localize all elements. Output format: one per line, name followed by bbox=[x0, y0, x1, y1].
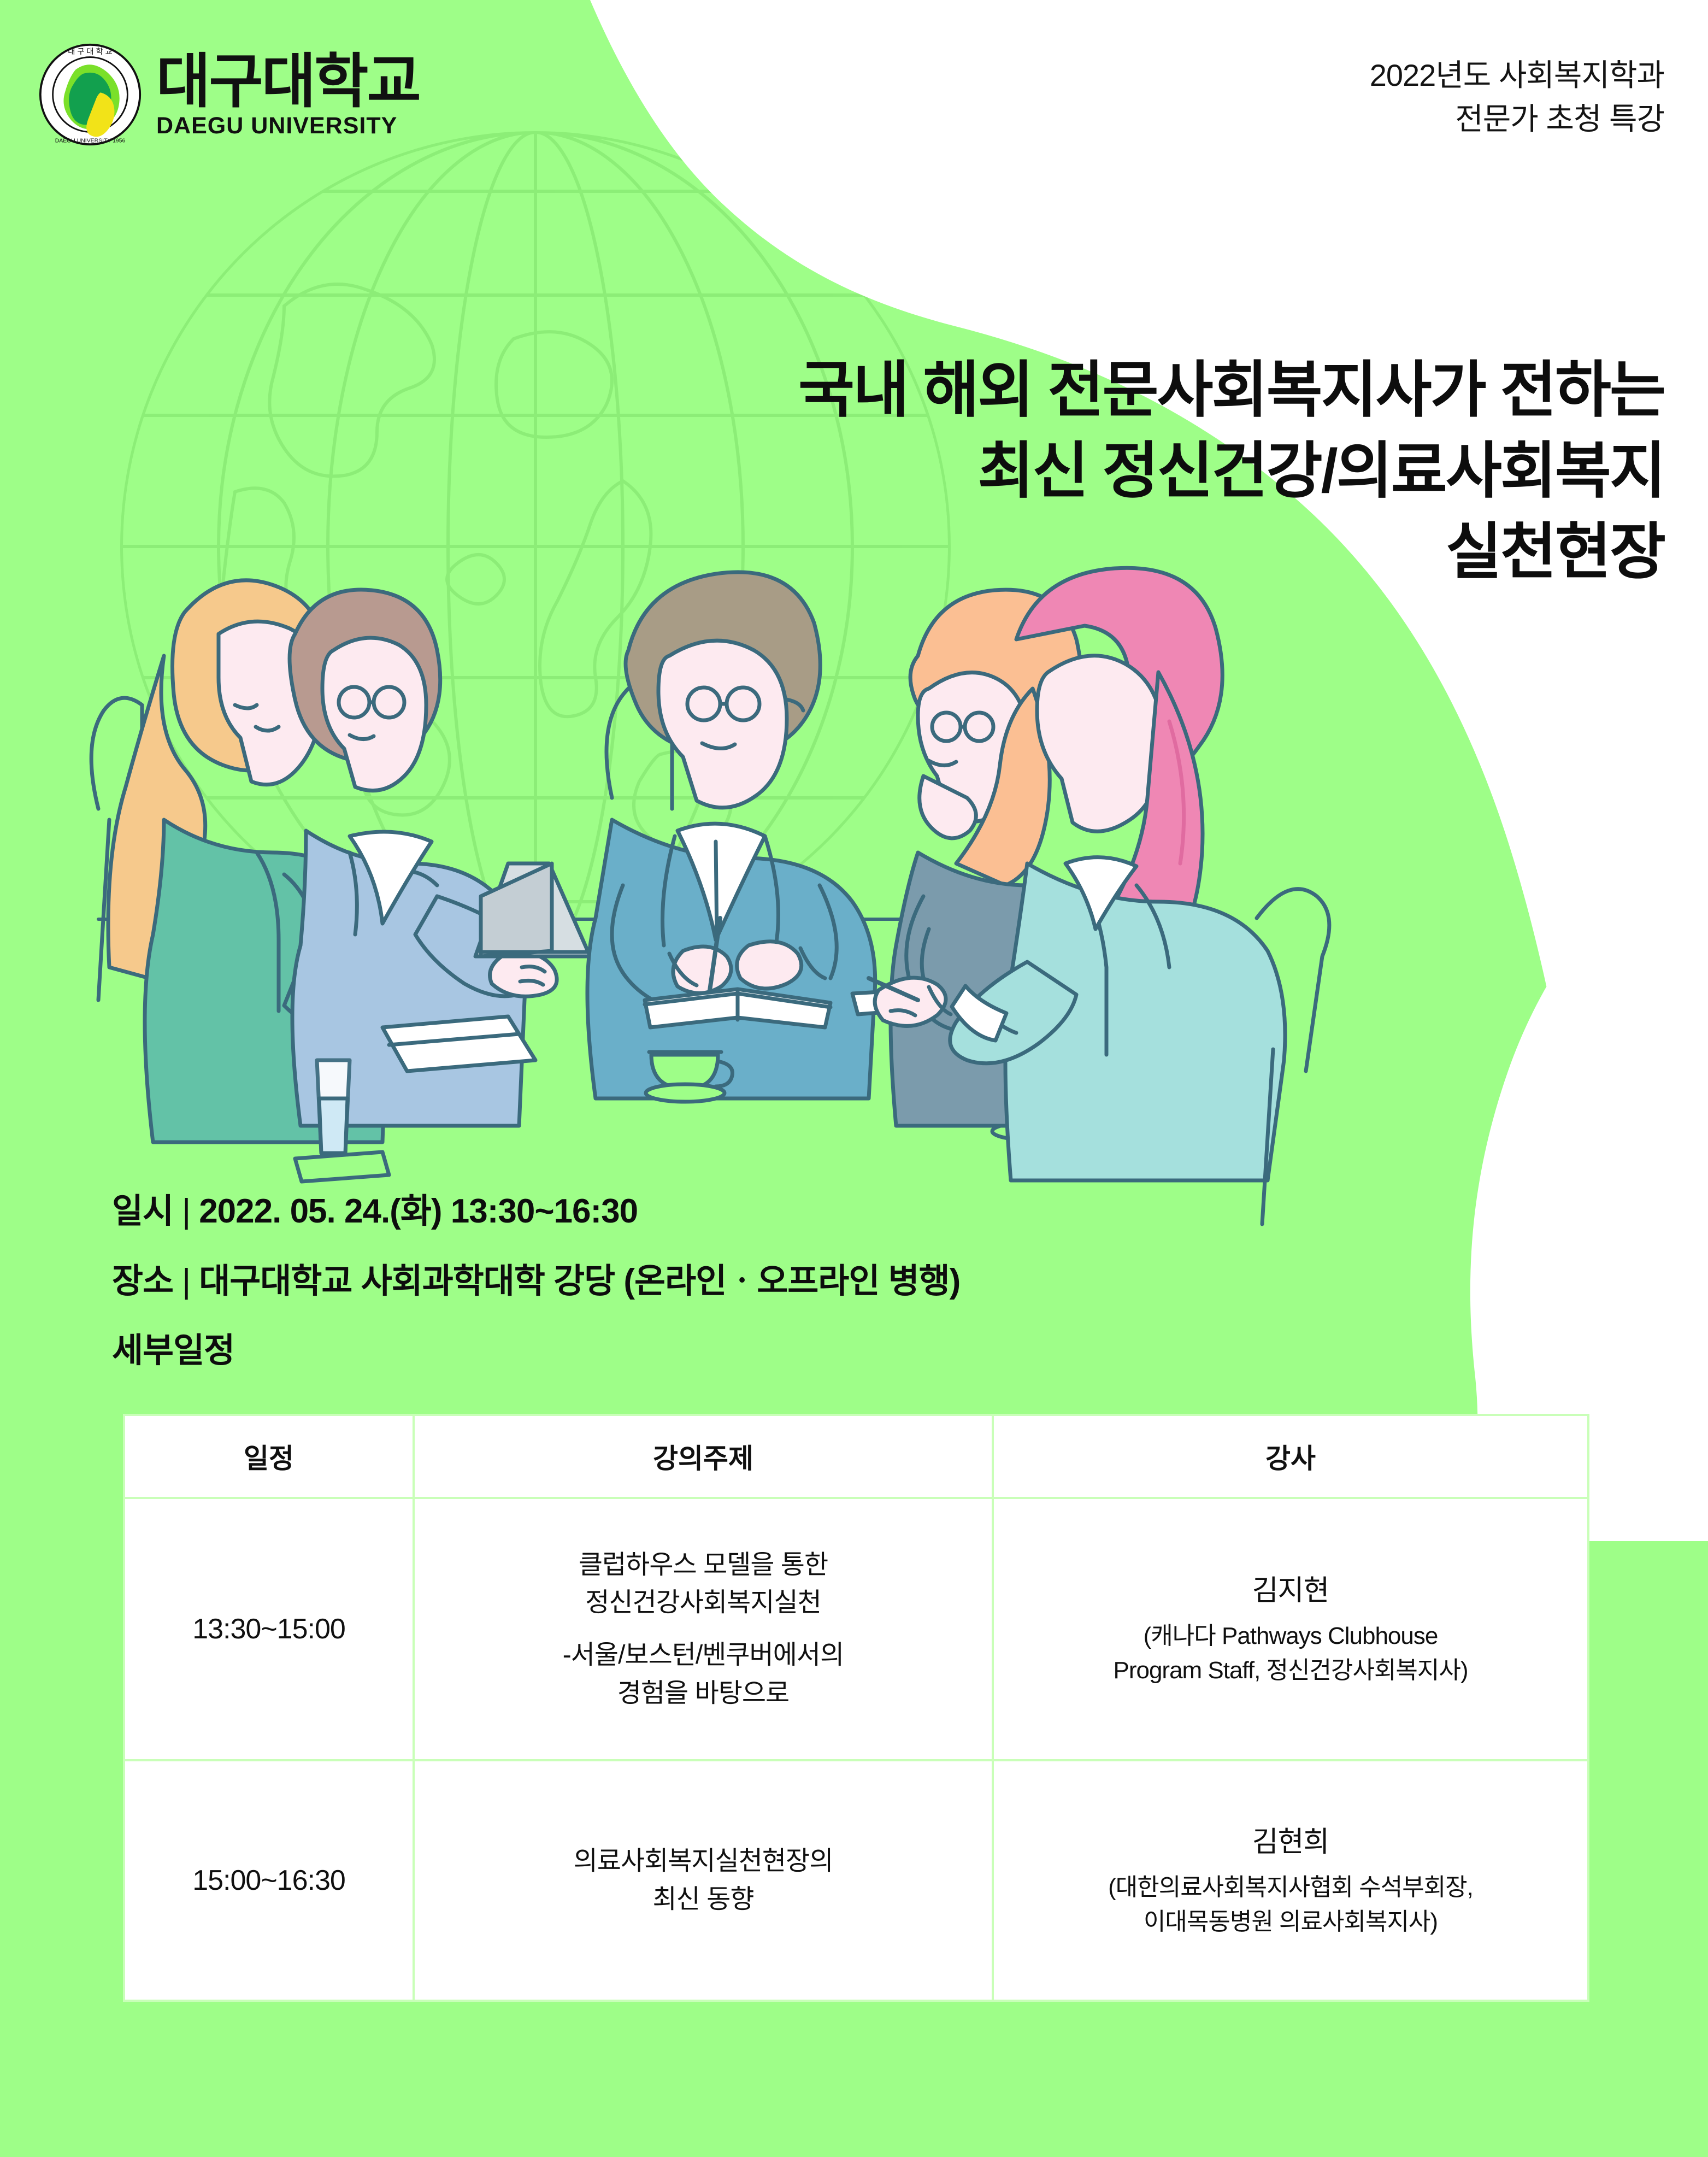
row1-topic: 클럽하우스 모델을 통한 정신건강사회복지실천 -서울/보스턴/벤쿠버에서의 경… bbox=[414, 1498, 993, 1760]
event-series-line-2: 전문가 초청 특강 bbox=[1370, 97, 1664, 141]
row1-topic-line-3: -서울/보스턴/벤쿠버에서의 bbox=[563, 1641, 844, 1670]
topic-spacer bbox=[422, 1622, 984, 1636]
row1-topic-line-4: 경험을 바탕으로 bbox=[617, 1679, 789, 1708]
logo-english-name: DAEGU UNIVERSITY bbox=[156, 114, 420, 138]
university-logo: 대 구 대 학 교 DAEGU UNIVERSITY 1956 대구대학교 DA… bbox=[38, 43, 420, 146]
row2-topic-line-2: 최신 동향 bbox=[653, 1885, 754, 1914]
row1-speaker-name: 김지현 bbox=[1002, 1571, 1580, 1612]
poster-root: 대 구 대 학 교 DAEGU UNIVERSITY 1956 대구대학교 DA… bbox=[0, 0, 1708, 2157]
event-date-row: 일시|2022. 05. 24.(화) 13:30~16:30 bbox=[112, 1183, 960, 1232]
date-separator: | bbox=[173, 1192, 199, 1231]
title-line-1: 국내 해외 전문사회복지사가 전하는 bbox=[798, 350, 1664, 431]
table-row: 15:00~16:30 의료사회복지실천현장의 최신 동향 김현희 (대한의료사… bbox=[124, 1760, 1588, 2001]
header-topic: 강의주제 bbox=[414, 1415, 993, 1498]
schedule-heading: 세부일정 bbox=[112, 1323, 234, 1372]
header-speaker: 강사 bbox=[993, 1415, 1588, 1498]
schedule-table: 일정 강의주제 강사 13:30~15:00 클럽하우스 모델을 통한 정신건강… bbox=[123, 1414, 1589, 2002]
row2-topic-line-1: 의료사회복지실천현장의 bbox=[574, 1847, 833, 1876]
row1-aff-line-1: (캐나다 Pathways Clubhouse bbox=[1144, 1623, 1438, 1649]
row2-topic: 의료사회복지실천현장의 최신 동향 bbox=[414, 1760, 993, 2001]
event-place-label: 장소 bbox=[112, 1253, 173, 1302]
event-place-row: 장소|대구대학교 사회과학대학 강당 (온라인ㆍ오프라인 병행) bbox=[112, 1253, 960, 1302]
row1-time: 13:30~15:00 bbox=[124, 1498, 414, 1760]
title-line-2: 최신 정신건강/의료사회복지 bbox=[798, 431, 1664, 512]
event-date-value: 2022. 05. 24.(화) 13:30~16:30 bbox=[199, 1192, 638, 1230]
svg-text:DAEGU UNIVERSITY 1956: DAEGU UNIVERSITY 1956 bbox=[55, 138, 126, 144]
event-date-label: 일시 bbox=[112, 1183, 173, 1232]
title-line-3: 실천현장 bbox=[798, 512, 1664, 592]
header-schedule: 일정 bbox=[124, 1415, 414, 1498]
row2-aff-line-2: 이대목동병원 의료사회복지사) bbox=[1144, 1908, 1438, 1935]
row2-speaker-affiliation: (대한의료사회복지사협회 수석부회장, 이대목동병원 의료사회복지사) bbox=[1002, 1871, 1580, 1939]
daegu-university-seal-icon: 대 구 대 학 교 DAEGU UNIVERSITY 1956 bbox=[38, 43, 142, 146]
event-series-label: 2022년도 사회복지학과 전문가 초청 특강 bbox=[1370, 54, 1664, 140]
row1-speaker-affiliation: (캐나다 Pathways Clubhouse Program Staff, 정… bbox=[1002, 1619, 1580, 1688]
row2-speaker: 김현희 (대한의료사회복지사협회 수석부회장, 이대목동병원 의료사회복지사) bbox=[993, 1760, 1588, 2001]
event-place-value: 대구대학교 사회과학대학 강당 (온라인ㆍ오프라인 병행) bbox=[199, 1262, 960, 1300]
row2-speaker-name: 김현희 bbox=[1002, 1822, 1580, 1863]
row1-speaker: 김지현 (캐나다 Pathways Clubhouse Program Staf… bbox=[993, 1498, 1588, 1760]
row1-topic-line-1: 클럽하우스 모델을 통한 bbox=[579, 1550, 828, 1579]
row1-topic-line-2: 정신건강사회복지실천 bbox=[585, 1588, 821, 1617]
row1-aff-line-2: Program Staff, 정신건강사회복지사) bbox=[1113, 1657, 1468, 1684]
row2-aff-line-1: (대한의료사회복지사협회 수석부회장, bbox=[1108, 1874, 1473, 1901]
event-series-line-1: 2022년도 사회복지학과 bbox=[1370, 54, 1664, 97]
table-header-row: 일정 강의주제 강사 bbox=[124, 1415, 1588, 1498]
event-info-block: 일시|2022. 05. 24.(화) 13:30~16:30 장소|대구대학교… bbox=[112, 1183, 960, 1323]
table-row: 13:30~15:00 클럽하우스 모델을 통한 정신건강사회복지실천 -서울/… bbox=[124, 1498, 1588, 1760]
svg-text:대 구 대 학 교: 대 구 대 학 교 bbox=[68, 47, 112, 56]
poster-title: 국내 해외 전문사회복지사가 전하는 최신 정신건강/의료사회복지 실천현장 bbox=[798, 350, 1664, 592]
logo-korean-name: 대구대학교 bbox=[156, 52, 420, 111]
row2-time: 15:00~16:30 bbox=[124, 1760, 414, 2001]
place-separator: | bbox=[173, 1262, 199, 1301]
